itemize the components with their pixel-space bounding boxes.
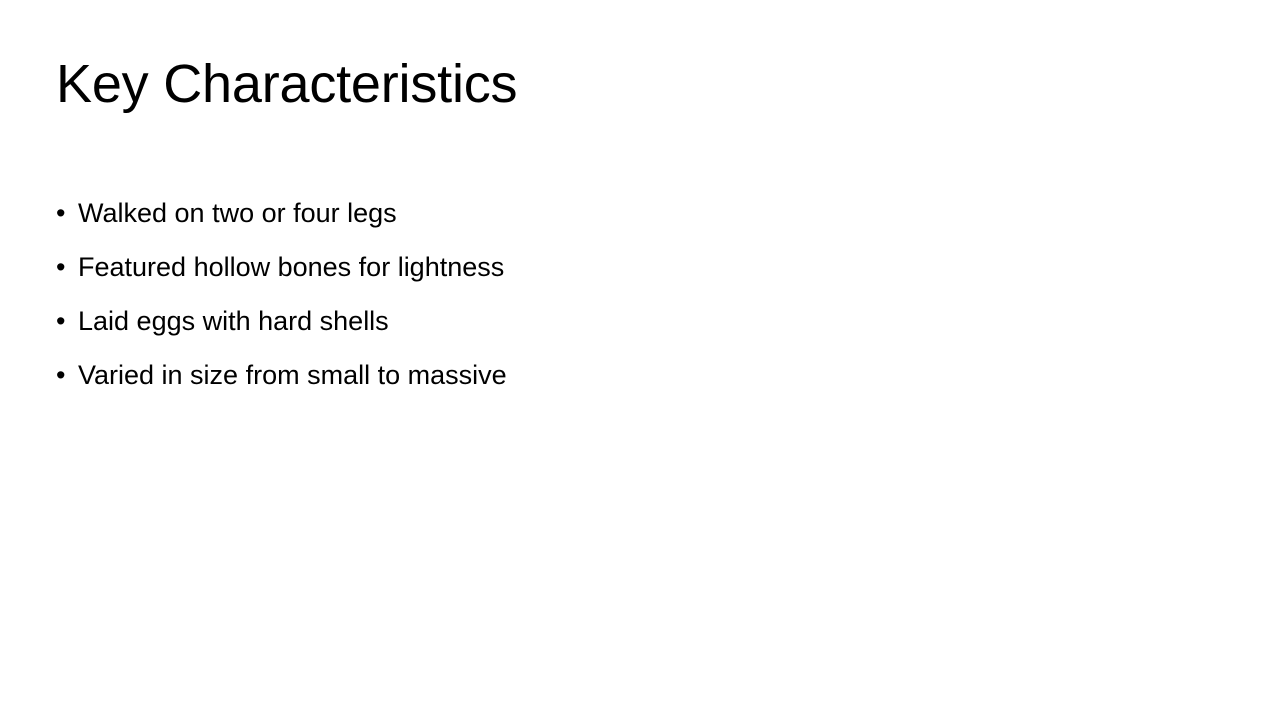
bullet-point-icon: • bbox=[56, 294, 78, 348]
bullet-point-icon: • bbox=[56, 348, 78, 402]
list-item: •Varied in size from small to massive bbox=[56, 348, 1224, 402]
list-item-label: Walked on two or four legs bbox=[78, 198, 397, 228]
list-item: •Walked on two or four legs bbox=[56, 186, 1224, 240]
list-item: •Laid eggs with hard shells bbox=[56, 294, 1224, 348]
presentation-slide: Key Characteristics •Walked on two or fo… bbox=[0, 0, 1280, 720]
list-item-label: Varied in size from small to massive bbox=[78, 360, 507, 390]
bullet-list: •Walked on two or four legs •Featured ho… bbox=[56, 186, 1224, 402]
list-item-label: Featured hollow bones for lightness bbox=[78, 252, 504, 282]
page-title: Key Characteristics bbox=[56, 52, 1224, 116]
bullet-point-icon: • bbox=[56, 186, 78, 240]
list-item-label: Laid eggs with hard shells bbox=[78, 306, 389, 336]
list-item: •Featured hollow bones for lightness bbox=[56, 240, 1224, 294]
bullet-point-icon: • bbox=[56, 240, 78, 294]
